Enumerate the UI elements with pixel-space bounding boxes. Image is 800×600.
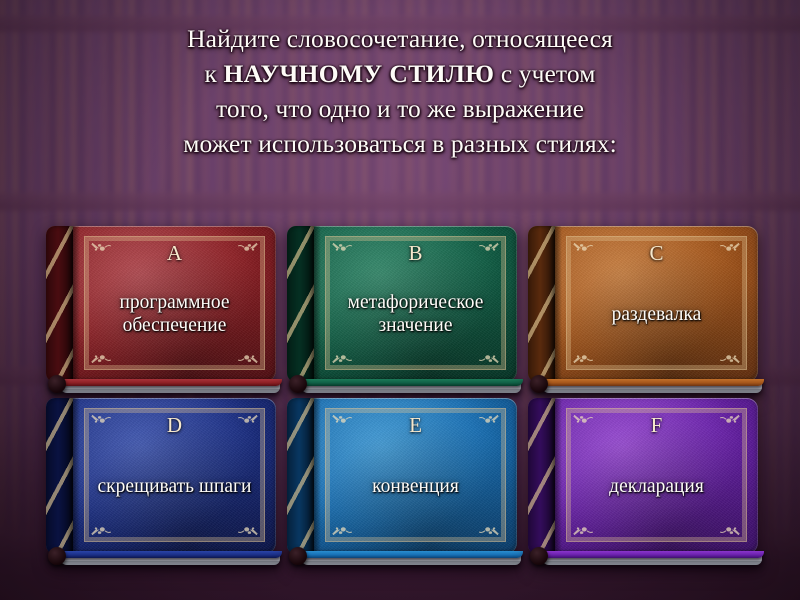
book-cover-lip	[297, 551, 523, 558]
question-line-4: может использоваться в разных стилях:	[183, 129, 617, 158]
book-spine-cap	[48, 547, 66, 565]
option-text-c: раздевалка	[568, 226, 745, 376]
book-spine-cap	[48, 375, 66, 393]
answer-option-f[interactable]: F декларация	[528, 398, 758, 554]
book-cover-lip	[297, 379, 523, 386]
slide-stage: Найдите словосочетание, относящееся к НА…	[0, 0, 800, 600]
question-emphasis: НАУЧНОМУ СТИЛЮ	[224, 59, 495, 88]
answer-option-b[interactable]: B метафорическое значение	[287, 226, 517, 382]
question-line-2-prefix: к	[205, 59, 224, 88]
book-spine-cap	[530, 375, 548, 393]
question-line-3: того, что одно и то же выражение	[216, 94, 584, 123]
answer-option-d[interactable]: D скрещивать шпаги	[46, 398, 276, 554]
option-text-d: скрещивать шпаги	[86, 398, 263, 548]
book-cover-lip	[538, 379, 764, 386]
answer-option-e[interactable]: E конвенция	[287, 398, 517, 554]
answer-option-c[interactable]: C раздевалка	[528, 226, 758, 382]
option-text-f: декларация	[568, 398, 745, 548]
option-text-e: конвенция	[327, 398, 504, 548]
option-text-a: программное обеспечение	[86, 226, 263, 376]
book-cover-lip	[538, 551, 764, 558]
book-cover-lip	[56, 551, 282, 558]
question-line-2-suffix: с учетом	[494, 59, 595, 88]
book-spine-cap	[289, 375, 307, 393]
book-spine-cap	[530, 547, 548, 565]
book-cover-lip	[56, 379, 282, 386]
answer-option-a[interactable]: A программное обеспечение	[46, 226, 276, 382]
book-spine-cap	[289, 547, 307, 565]
question-line-1: Найдите словосочетание, относящееся	[187, 24, 613, 53]
option-text-b: метафорическое значение	[327, 226, 504, 376]
answer-grid: A программное обеспечение	[46, 226, 758, 554]
question-text: Найдите словосочетание, относящееся к НА…	[0, 22, 800, 162]
